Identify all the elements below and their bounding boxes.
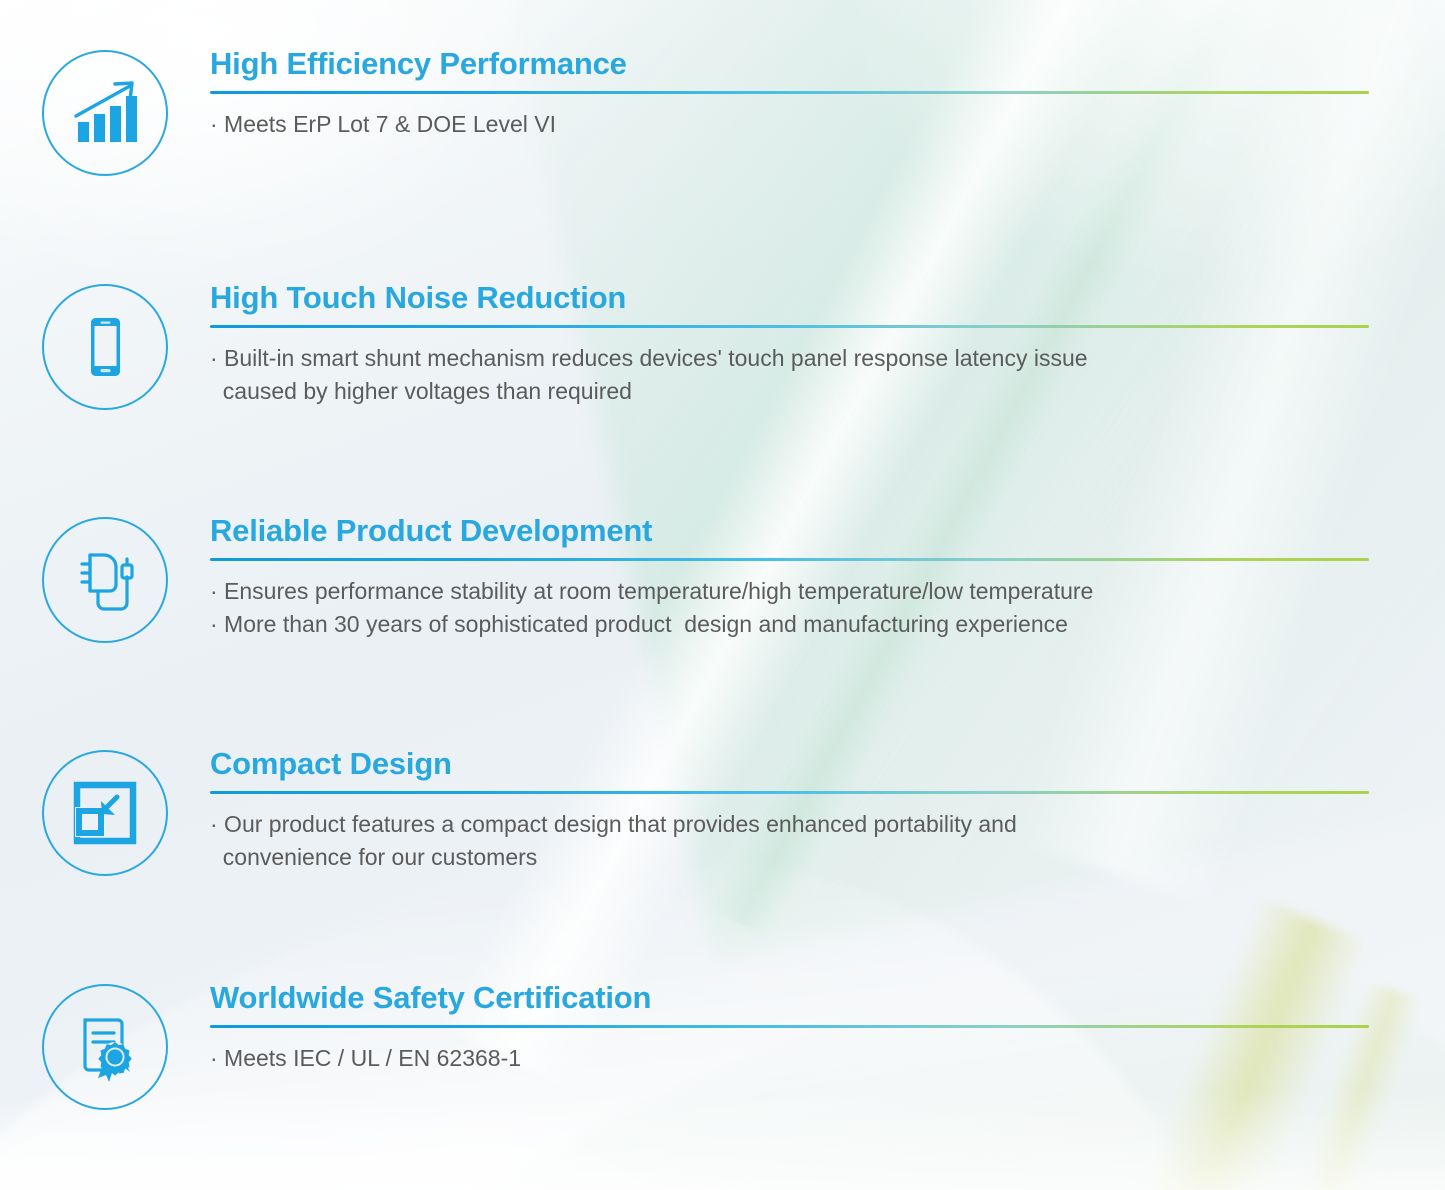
feature-icon-slot — [0, 282, 210, 410]
feature-item-reliable-product-development: Reliable Product Development · Ensures p… — [0, 515, 1445, 643]
feature-icon-slot — [0, 748, 210, 876]
feature-item-compact-design: Compact Design · Our product features a … — [0, 748, 1445, 876]
feature-icon-slot — [0, 515, 210, 643]
feature-title: High Efficiency Performance — [210, 48, 1375, 81]
feature-bullet: · More than 30 years of sophisticated pr… — [210, 608, 1375, 641]
feature-body: Compact Design · Our product features a … — [210, 748, 1445, 874]
feature-divider — [210, 791, 1369, 794]
compact-resize-icon — [42, 750, 168, 876]
feature-title: Reliable Product Development — [210, 515, 1375, 548]
feature-divider — [210, 91, 1369, 94]
feature-body: Worldwide Safety Certification · Meets I… — [210, 982, 1445, 1075]
feature-body: Reliable Product Development · Ensures p… — [210, 515, 1445, 641]
smartphone-icon — [42, 284, 168, 410]
feature-title: High Touch Noise Reduction — [210, 282, 1375, 315]
feature-bullet: · Meets IEC / UL / EN 62368-1 — [210, 1042, 1375, 1075]
feature-body: High Touch Noise Reduction · Built-in sm… — [210, 282, 1445, 408]
feature-body: High Efficiency Performance · Meets ErP … — [210, 48, 1445, 141]
feature-bullet: · Ensures performance stability at room … — [210, 575, 1375, 608]
feature-item-high-touch-noise-reduction: High Touch Noise Reduction · Built-in sm… — [0, 282, 1445, 410]
feature-title: Worldwide Safety Certification — [210, 982, 1375, 1015]
bar-chart-growth-icon — [42, 50, 168, 176]
feature-icon-slot — [0, 48, 210, 176]
feature-divider — [210, 558, 1369, 561]
feature-item-worldwide-safety-certification: Worldwide Safety Certification · Meets I… — [0, 982, 1445, 1110]
feature-divider — [210, 325, 1369, 328]
feature-title: Compact Design — [210, 748, 1375, 781]
feature-bullet: · Built-in smart shunt mechanism reduces… — [210, 342, 1375, 409]
feature-bullet: · Our product features a compact design … — [210, 808, 1375, 875]
feature-list: High Efficiency Performance · Meets ErP … — [0, 0, 1445, 1190]
feature-item-high-efficiency-performance: High Efficiency Performance · Meets ErP … — [0, 48, 1445, 176]
feature-bullet: · Meets ErP Lot 7 & DOE Level VI — [210, 108, 1375, 141]
feature-icon-slot — [0, 982, 210, 1110]
power-adapter-icon — [42, 517, 168, 643]
feature-divider — [210, 1025, 1369, 1028]
feature-highlights-page: High Efficiency Performance · Meets ErP … — [0, 0, 1445, 1190]
certificate-award-icon — [42, 984, 168, 1110]
